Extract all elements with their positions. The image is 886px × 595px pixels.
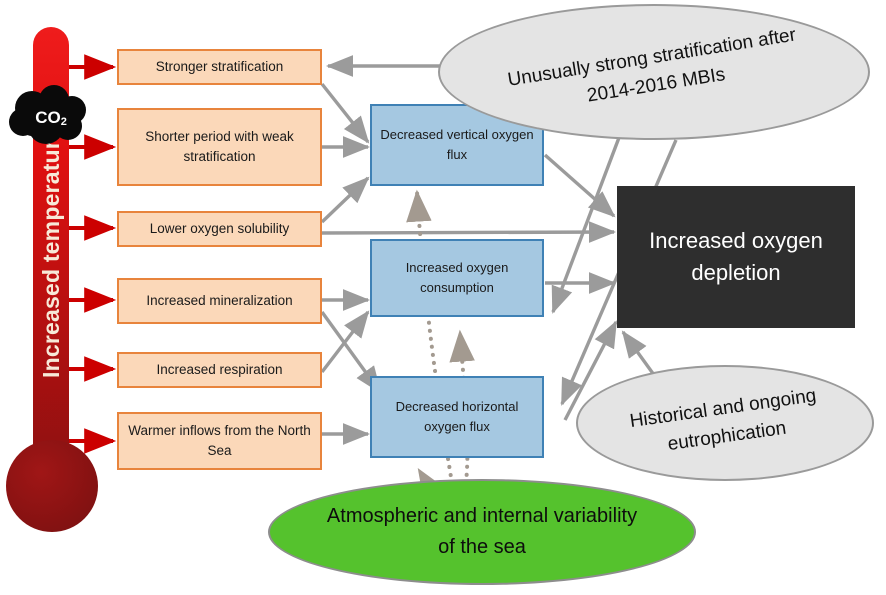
cause-box-shorter-period-weak-stratification[interactable]: Shorter period with weak stratification (117, 108, 322, 186)
cause-label: Lower oxygen solubility (150, 219, 290, 239)
diagram-canvas: Increased temperature CO2 Stronger strat… (0, 0, 886, 595)
cause-box-increased-mineralization[interactable]: Increased mineralization (117, 278, 322, 324)
effect-label: Increased oxygen consumption (380, 258, 534, 298)
effect-label: Decreased horizontal oxygen flux (380, 397, 534, 437)
cause-label: Shorter period with weak stratification (127, 127, 312, 168)
ellipse-atmospheric-internal-variability[interactable]: Atmospheric and internal variability of … (268, 479, 696, 585)
cause-box-increased-respiration[interactable]: Increased respiration (117, 352, 322, 388)
cause-box-lower-oxygen-solubility[interactable]: Lower oxygen solubility (117, 211, 322, 247)
cause-label: Stronger stratification (156, 57, 284, 77)
ellipse-label: Unusually strong stratification after 20… (487, 19, 822, 125)
effect-box-decreased-horizontal-oxygen-flux[interactable]: Decreased horizontal oxygen flux (370, 376, 544, 458)
cause-box-stronger-stratification[interactable]: Stronger stratification (117, 49, 322, 85)
cause-label: Increased mineralization (146, 291, 292, 311)
result-label: Increased oxygen depletion (627, 225, 845, 289)
cause-label: Increased respiration (156, 360, 282, 380)
effect-label: Decreased vertical oxygen flux (380, 125, 534, 165)
cause-box-warmer-inflows-north-sea[interactable]: Warmer inflows from the North Sea (117, 412, 322, 470)
cause-label: Warmer inflows from the North Sea (127, 421, 312, 462)
co2-cloud-icon: CO2 (8, 84, 94, 146)
co2-label: CO2 (8, 84, 94, 146)
result-box-increased-oxygen-depletion[interactable]: Increased oxygen depletion (617, 186, 855, 328)
ellipse-label: Atmospheric and internal variability of … (317, 501, 647, 563)
effect-box-increased-oxygen-consumption[interactable]: Increased oxygen consumption (370, 239, 544, 317)
thermometer-bulb (6, 440, 98, 532)
ellipse-unusually-strong-stratification[interactable]: Unusually strong stratification after 20… (438, 4, 870, 140)
ellipse-historical-ongoing-eutrophication[interactable]: Historical and ongoing eutrophication (576, 365, 874, 481)
ellipse-label: Historical and ongoing eutrophication (604, 379, 845, 466)
